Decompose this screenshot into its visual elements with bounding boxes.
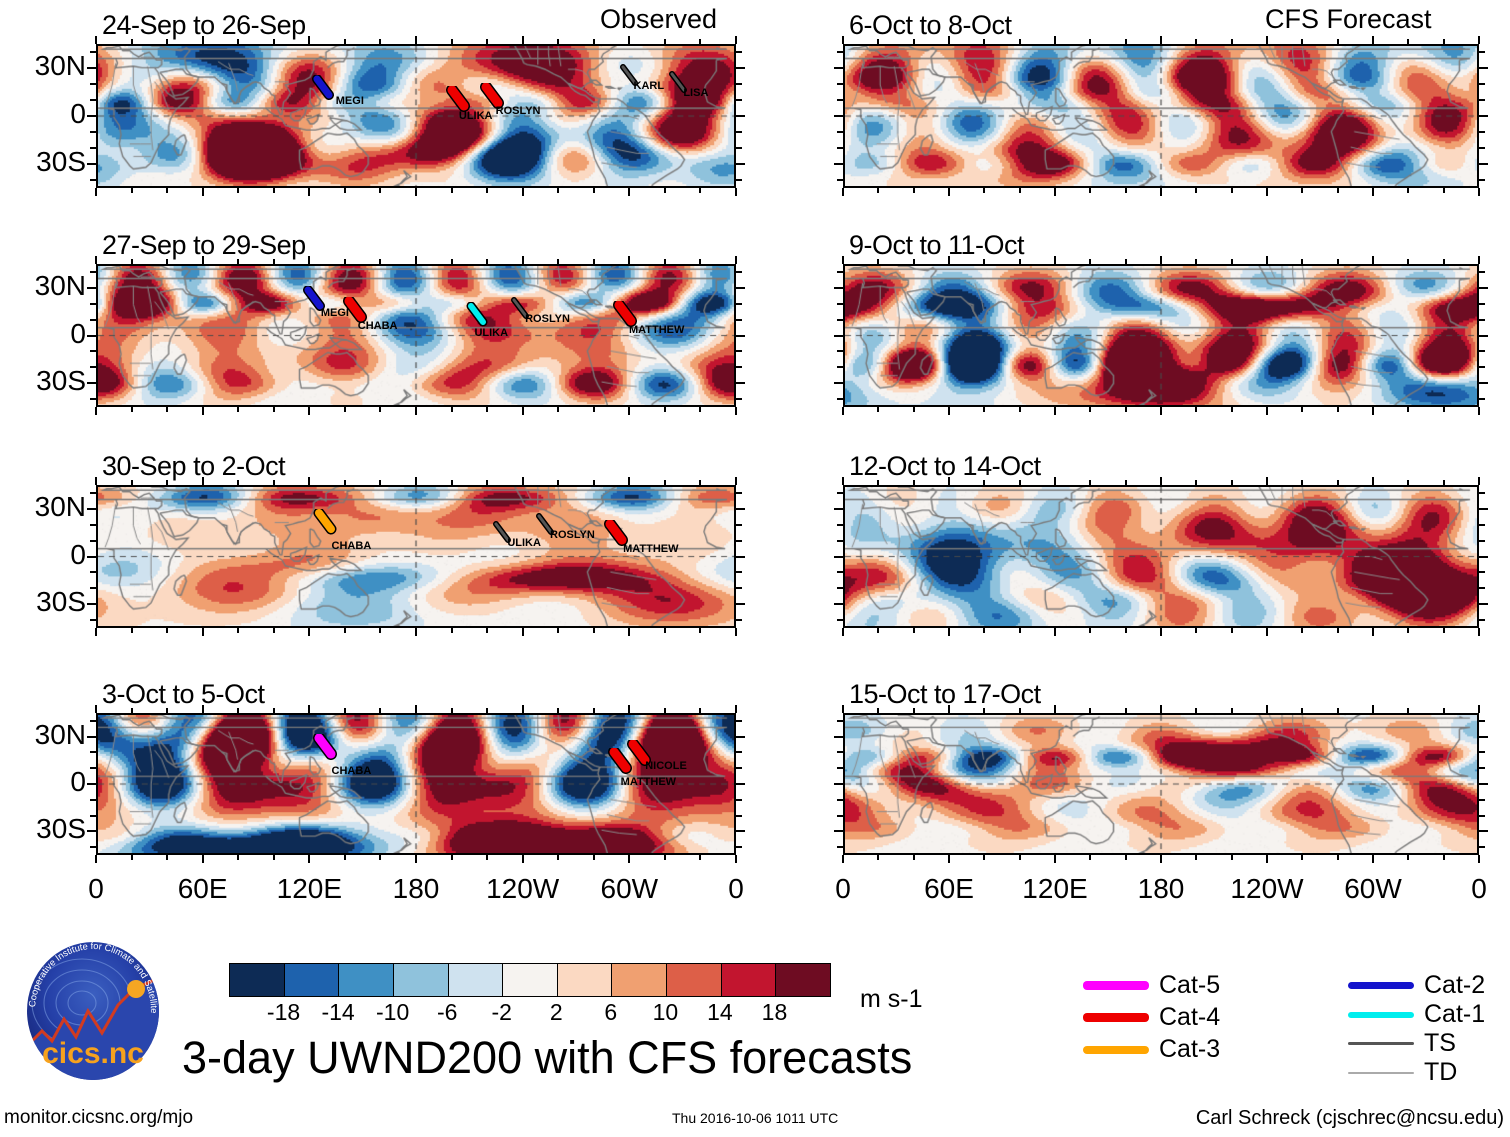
- x-axis-tick-label: 120E: [995, 873, 1115, 905]
- axis-tick: [1479, 524, 1485, 526]
- axis-tick: [1054, 407, 1056, 415]
- axis-tick: [842, 477, 844, 485]
- axis-tick: [237, 407, 239, 412]
- axis-tick: [273, 855, 275, 860]
- axis-tick: [90, 571, 96, 573]
- storm-legend-swatch: [1348, 1042, 1414, 1045]
- axis-tick: [87, 603, 96, 605]
- storm-legend-swatch: [1083, 1013, 1149, 1022]
- axis-tick: [1479, 587, 1485, 589]
- axis-tick: [1266, 477, 1268, 485]
- y-axis-tick-label: 30N: [0, 491, 86, 523]
- axis-tick: [1479, 783, 1488, 785]
- axis-tick: [308, 407, 310, 415]
- axis-tick: [87, 115, 96, 117]
- footer-site-link[interactable]: monitor.cicsnc.org/mjo: [4, 1107, 193, 1129]
- axis-tick: [593, 628, 595, 633]
- axis-tick: [522, 36, 524, 44]
- storm-label: CHABA: [358, 320, 398, 332]
- map-anomaly-field: [98, 487, 734, 626]
- axis-tick: [1160, 256, 1162, 264]
- storm-label: MATTHEW: [623, 543, 678, 555]
- panel-title: 27-Sep to 29-Sep: [102, 230, 306, 261]
- axis-tick: [1231, 39, 1233, 44]
- axis-tick: [1231, 708, 1233, 713]
- axis-tick: [837, 131, 843, 133]
- y-axis-tick-label: 30S: [0, 813, 86, 845]
- axis-tick: [1407, 407, 1409, 412]
- panel-title: 30-Sep to 2-Oct: [102, 451, 285, 482]
- axis-tick: [90, 179, 96, 181]
- axis-tick: [451, 259, 453, 264]
- axis-tick: [736, 83, 742, 85]
- axis-tick: [557, 855, 559, 860]
- axis-tick: [131, 188, 133, 193]
- axis-tick: [379, 628, 381, 633]
- axis-tick: [948, 628, 950, 636]
- axis-tick: [1337, 708, 1339, 713]
- axis-tick: [1054, 256, 1056, 264]
- axis-tick: [736, 736, 745, 738]
- axis-tick: [1479, 131, 1485, 133]
- map-panel[interactable]: [843, 44, 1479, 188]
- axis-tick: [237, 708, 239, 713]
- axis-tick: [736, 67, 745, 69]
- axis-tick: [95, 36, 97, 44]
- axis-tick: [1089, 407, 1091, 412]
- axis-tick: [837, 571, 843, 573]
- axis-tick: [834, 67, 843, 69]
- axis-tick: [664, 480, 666, 485]
- axis-tick: [344, 855, 346, 860]
- axis-tick: [1160, 407, 1162, 415]
- axis-tick: [1089, 480, 1091, 485]
- axis-tick: [1160, 36, 1162, 44]
- axis-tick: [1479, 751, 1485, 753]
- axis-tick: [90, 51, 96, 53]
- storm-label: ULIKA: [459, 110, 493, 122]
- map-panel[interactable]: [843, 485, 1479, 628]
- storm-legend-swatch: [1083, 981, 1149, 990]
- axis-tick: [557, 407, 559, 412]
- axis-tick: [1478, 855, 1480, 863]
- axis-tick: [131, 407, 133, 412]
- axis-tick: [202, 477, 204, 485]
- storm-legend-swatch: [1348, 1072, 1414, 1074]
- axis-tick: [90, 587, 96, 589]
- storm-label: NICOLE: [645, 760, 687, 772]
- axis-tick: [273, 39, 275, 44]
- axis-tick: [308, 705, 310, 713]
- axis-tick: [1479, 571, 1485, 573]
- storm-legend-label: Cat-5: [1159, 973, 1220, 998]
- axis-tick: [87, 335, 96, 337]
- axis-tick: [166, 39, 168, 44]
- storm-legend-item[interactable]: Cat-2: [1348, 973, 1485, 998]
- axis-tick: [913, 480, 915, 485]
- axis-tick: [415, 36, 417, 44]
- axis-tick: [131, 39, 133, 44]
- axis-tick: [1479, 736, 1488, 738]
- axis-tick: [837, 303, 843, 305]
- axis-tick: [983, 407, 985, 412]
- axis-tick: [1266, 628, 1268, 636]
- x-axis-tick-label: 180: [356, 873, 476, 905]
- storm-track[interactable]: [465, 302, 491, 328]
- axis-tick: [948, 477, 950, 485]
- axis-tick: [913, 407, 915, 412]
- axis-tick: [1479, 83, 1485, 85]
- axis-tick: [379, 407, 381, 412]
- storm-label: LISA: [683, 87, 708, 99]
- axis-tick: [1125, 480, 1127, 485]
- axis-tick: [948, 855, 950, 863]
- map-panel[interactable]: [843, 264, 1479, 407]
- axis-tick: [1478, 705, 1480, 713]
- panel-title: 24-Sep to 26-Sep: [102, 10, 306, 41]
- axis-tick: [522, 256, 524, 264]
- axis-tick: [344, 628, 346, 633]
- x-axis-tick-label: 120E: [249, 873, 369, 905]
- axis-tick: [1301, 39, 1303, 44]
- colorbar-units-label: m s-1: [860, 985, 923, 1014]
- storm-label: ROSLYN: [496, 105, 541, 117]
- axis-tick: [202, 188, 204, 196]
- axis-tick: [486, 407, 488, 412]
- map-anomaly-field: [845, 487, 1477, 626]
- axis-tick: [1479, 508, 1488, 510]
- axis-tick: [1089, 628, 1091, 633]
- axis-tick: [1479, 846, 1485, 848]
- axis-tick: [1231, 407, 1233, 412]
- axis-tick: [735, 855, 737, 863]
- storm-legend-swatch: [1348, 1012, 1414, 1018]
- axis-tick: [486, 259, 488, 264]
- axis-tick: [1301, 259, 1303, 264]
- axis-tick: [1195, 188, 1197, 193]
- axis-tick: [202, 628, 204, 636]
- axis-tick: [1407, 259, 1409, 264]
- axis-tick: [1231, 628, 1233, 633]
- axis-tick: [415, 407, 417, 415]
- axis-tick: [1301, 407, 1303, 412]
- axis-tick: [1478, 256, 1480, 264]
- storm-track[interactable]: [311, 75, 337, 101]
- colorbar-swatch: [612, 964, 667, 996]
- axis-tick: [1479, 350, 1485, 352]
- axis-tick: [90, 619, 96, 621]
- axis-tick: [95, 705, 97, 713]
- axis-tick: [1195, 628, 1197, 633]
- axis-tick: [593, 708, 595, 713]
- colorbar-swatch: [230, 964, 285, 996]
- map-anomaly-field: [845, 266, 1477, 405]
- axis-tick: [557, 188, 559, 193]
- axis-tick: [522, 705, 524, 713]
- axis-tick: [1479, 815, 1485, 817]
- storm-legend-label: Cat-4: [1159, 1005, 1220, 1030]
- axis-tick: [735, 705, 737, 713]
- axis-tick: [1125, 628, 1127, 633]
- storm-legend-item[interactable]: Cat-3: [1083, 1037, 1220, 1062]
- axis-tick: [837, 751, 843, 753]
- axis-tick: [1443, 628, 1445, 633]
- x-axis-tick-label: 60E: [143, 873, 263, 905]
- storm-legend-item[interactable]: TS: [1348, 1031, 1456, 1056]
- axis-tick: [1301, 708, 1303, 713]
- axis-tick: [1478, 477, 1480, 485]
- axis-tick: [1125, 855, 1127, 860]
- axis-tick: [736, 99, 742, 101]
- y-axis-tick-label: 0: [0, 98, 86, 130]
- storm-label: ULIKA: [507, 537, 541, 549]
- axis-tick: [593, 855, 595, 860]
- axis-tick: [1479, 67, 1488, 69]
- axis-tick: [837, 99, 843, 101]
- axis-tick: [90, 720, 96, 722]
- storm-legend-label: Cat-1: [1424, 1002, 1485, 1027]
- axis-tick: [90, 147, 96, 149]
- axis-tick: [1443, 188, 1445, 193]
- axis-tick: [451, 407, 453, 412]
- axis-tick: [379, 188, 381, 193]
- observed-column-header: Observed: [600, 4, 717, 35]
- axis-tick: [1372, 188, 1374, 196]
- axis-tick: [913, 259, 915, 264]
- axis-tick: [983, 259, 985, 264]
- axis-tick: [736, 287, 745, 289]
- map-panel[interactable]: [96, 485, 736, 628]
- panel-title: 12-Oct to 14-Oct: [849, 451, 1041, 482]
- axis-tick: [1337, 188, 1339, 193]
- axis-tick: [1266, 705, 1268, 713]
- x-axis-tick-label: 0: [783, 873, 903, 905]
- axis-tick: [1337, 259, 1339, 264]
- axis-tick: [736, 382, 745, 384]
- axis-tick: [1372, 855, 1374, 863]
- axis-tick: [1301, 628, 1303, 633]
- axis-tick: [834, 830, 843, 832]
- axis-tick: [837, 319, 843, 321]
- y-axis-tick-label: 30S: [0, 586, 86, 618]
- axis-tick: [557, 480, 559, 485]
- colorbar-swatch: [503, 964, 558, 996]
- axis-tick: [1372, 628, 1374, 636]
- main-title: 3-day UWND200 with CFS forecasts: [182, 1032, 912, 1084]
- map-panel[interactable]: [843, 713, 1479, 855]
- axis-tick: [1195, 708, 1197, 713]
- colorbar-swatch: [722, 964, 777, 996]
- axis-tick: [736, 524, 742, 526]
- axis-tick: [1479, 799, 1485, 801]
- axis-tick: [557, 259, 559, 264]
- axis-tick: [1231, 188, 1233, 193]
- axis-tick: [628, 477, 630, 485]
- axis-tick: [736, 335, 745, 337]
- axis-tick: [1301, 480, 1303, 485]
- axis-tick: [1266, 188, 1268, 196]
- axis-tick: [1195, 259, 1197, 264]
- axis-tick: [486, 188, 488, 193]
- axis-tick: [451, 480, 453, 485]
- axis-tick: [736, 815, 742, 817]
- storm-label: CHABA: [332, 540, 372, 552]
- axis-tick: [1160, 628, 1162, 636]
- storm-track[interactable]: [313, 734, 339, 760]
- axis-tick: [664, 628, 666, 633]
- axis-tick: [237, 480, 239, 485]
- axis-tick: [1372, 705, 1374, 713]
- axis-tick: [736, 587, 742, 589]
- axis-tick: [90, 131, 96, 133]
- axis-tick: [1301, 855, 1303, 860]
- axis-tick: [1479, 287, 1488, 289]
- axis-tick: [166, 855, 168, 860]
- axis-tick: [1337, 407, 1339, 412]
- storm-label: MEGI: [336, 95, 364, 107]
- y-axis-tick-label: 0: [0, 539, 86, 571]
- axis-tick: [735, 407, 737, 415]
- axis-tick: [913, 188, 915, 193]
- axis-tick: [131, 855, 133, 860]
- axis-tick: [1337, 480, 1339, 485]
- axis-tick: [90, 540, 96, 542]
- axis-tick: [273, 259, 275, 264]
- axis-tick: [451, 188, 453, 193]
- axis-tick: [842, 256, 844, 264]
- axis-tick: [628, 628, 630, 636]
- axis-tick: [1372, 477, 1374, 485]
- storm-track[interactable]: [608, 748, 634, 774]
- axis-tick: [1019, 628, 1021, 633]
- axis-tick: [344, 188, 346, 193]
- axis-tick: [90, 350, 96, 352]
- axis-tick: [90, 751, 96, 753]
- axis-tick: [87, 736, 96, 738]
- x-axis-tick-label: 0: [1419, 873, 1510, 905]
- axis-tick: [877, 188, 879, 193]
- axis-tick: [877, 407, 879, 412]
- storm-legend-item[interactable]: Cat-5: [1083, 973, 1220, 998]
- axis-tick: [837, 767, 843, 769]
- axis-tick: [735, 188, 737, 196]
- axis-tick: [842, 407, 844, 415]
- axis-tick: [628, 705, 630, 713]
- x-axis-tick-label: 60W: [1313, 873, 1433, 905]
- storm-label: MATTHEW: [629, 324, 684, 336]
- axis-tick: [1478, 188, 1480, 196]
- storm-legend-swatch: [1083, 1046, 1149, 1054]
- storm-legend-item[interactable]: Cat-1: [1348, 1002, 1485, 1027]
- axis-tick: [736, 163, 745, 165]
- axis-tick: [557, 39, 559, 44]
- axis-tick: [90, 767, 96, 769]
- axis-tick: [1479, 319, 1485, 321]
- axis-tick: [1054, 705, 1056, 713]
- storm-legend-item[interactable]: TD: [1348, 1060, 1457, 1085]
- axis-tick: [308, 256, 310, 264]
- axis-tick: [593, 259, 595, 264]
- axis-tick: [95, 628, 97, 636]
- axis-tick: [736, 830, 745, 832]
- axis-tick: [95, 855, 97, 863]
- colorbar-swatch: [667, 964, 722, 996]
- axis-tick: [1089, 188, 1091, 193]
- axis-tick: [1372, 36, 1374, 44]
- axis-tick: [202, 407, 204, 415]
- axis-tick: [1479, 115, 1488, 117]
- axis-tick: [736, 508, 745, 510]
- axis-tick: [344, 480, 346, 485]
- axis-tick: [699, 39, 701, 44]
- axis-tick: [736, 319, 742, 321]
- axis-tick: [379, 480, 381, 485]
- axis-tick: [1195, 480, 1197, 485]
- axis-tick: [842, 36, 844, 44]
- storm-label: MATTHEW: [621, 776, 676, 788]
- axis-tick: [736, 783, 745, 785]
- axis-tick: [593, 480, 595, 485]
- axis-tick: [834, 287, 843, 289]
- colorbar-swatch: [339, 964, 394, 996]
- axis-tick: [522, 188, 524, 196]
- axis-tick: [913, 39, 915, 44]
- axis-tick: [308, 188, 310, 196]
- axis-tick: [983, 708, 985, 713]
- axis-tick: [1019, 480, 1021, 485]
- axis-tick: [166, 407, 168, 412]
- axis-tick: [344, 407, 346, 412]
- axis-tick: [1089, 855, 1091, 860]
- axis-tick: [834, 163, 843, 165]
- axis-tick: [735, 477, 737, 485]
- axis-tick: [1478, 407, 1480, 415]
- logo-wordmark: cics.nc: [42, 1037, 144, 1070]
- axis-tick: [379, 259, 381, 264]
- axis-tick: [1407, 188, 1409, 193]
- x-axis-tick-label: 60W: [569, 873, 689, 905]
- storm-label: ROSLYN: [525, 313, 570, 325]
- axis-tick: [736, 115, 745, 117]
- axis-tick: [308, 477, 310, 485]
- axis-tick: [1479, 556, 1488, 558]
- axis-tick: [837, 720, 843, 722]
- axis-tick: [664, 188, 666, 193]
- axis-tick: [983, 855, 985, 860]
- axis-tick: [699, 855, 701, 860]
- axis-tick: [415, 705, 417, 713]
- axis-tick: [557, 708, 559, 713]
- axis-tick: [735, 36, 737, 44]
- panel-title: 9-Oct to 11-Oct: [849, 230, 1024, 261]
- axis-tick: [1019, 855, 1021, 860]
- axis-tick: [451, 708, 453, 713]
- axis-tick: [1125, 407, 1127, 412]
- axis-tick: [308, 36, 310, 44]
- storm-track[interactable]: [446, 86, 472, 112]
- axis-tick: [308, 855, 310, 863]
- axis-tick: [948, 188, 950, 196]
- axis-tick: [1479, 366, 1485, 368]
- storm-track[interactable]: [313, 509, 339, 535]
- axis-tick: [273, 480, 275, 485]
- axis-tick: [736, 556, 745, 558]
- axis-tick: [344, 39, 346, 44]
- axis-tick: [1054, 628, 1056, 636]
- storm-legend-item[interactable]: Cat-4: [1083, 1005, 1220, 1030]
- axis-tick: [736, 540, 742, 542]
- axis-tick: [837, 147, 843, 149]
